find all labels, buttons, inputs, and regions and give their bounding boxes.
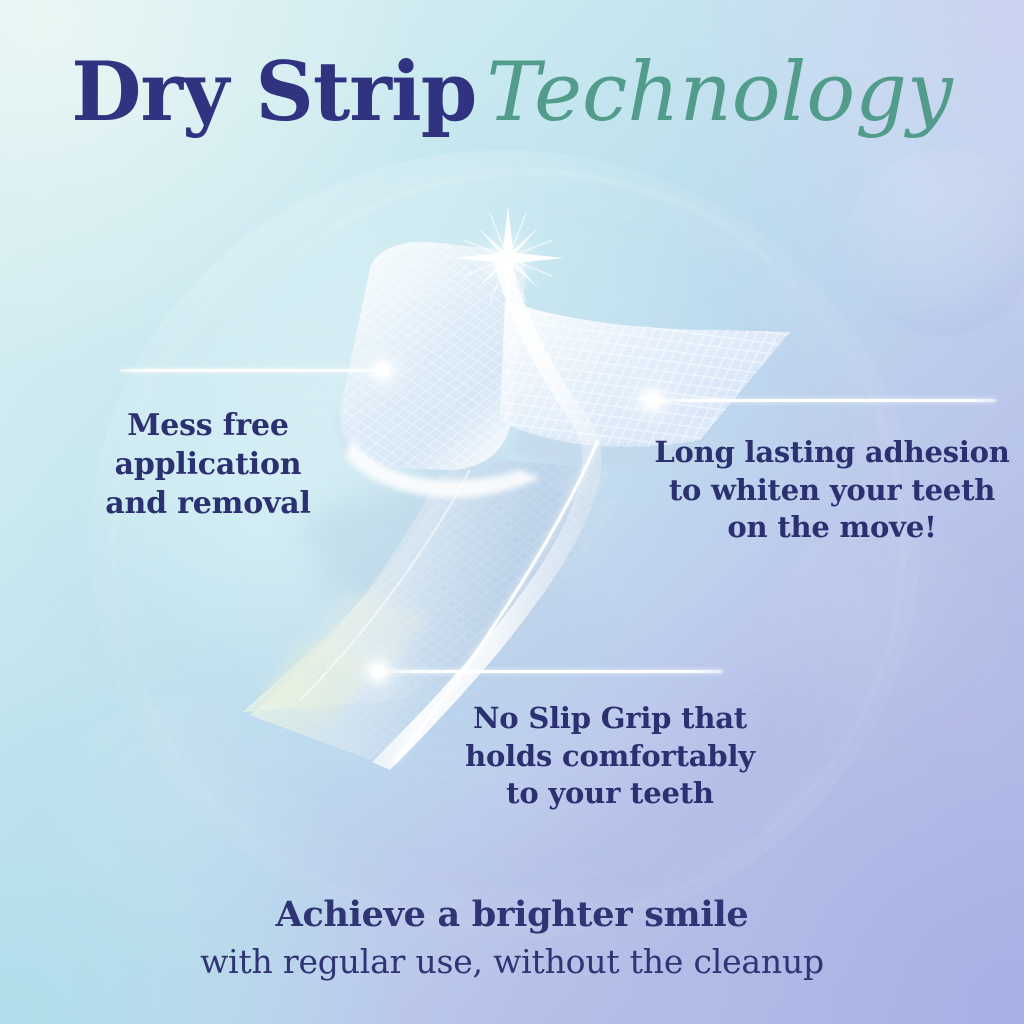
leader-dot-no-slip-grip <box>372 665 385 678</box>
callout-mess-free-line-3: and removal <box>48 484 368 523</box>
page-title: Dry StripTechnology <box>0 52 1024 134</box>
callout-long-lasting-line-3: on the move! <box>640 509 1024 547</box>
infographic-canvas: Dry StripTechnology Mess free applicatio… <box>0 0 1024 1024</box>
callout-no-slip-grip-line-3: to your teeth <box>430 775 790 813</box>
callout-mess-free-line-1: Mess free <box>48 406 368 445</box>
callout-mess-free-line-2: application <box>48 445 368 484</box>
callout-no-slip-grip-line-2: holds comfortably <box>430 738 790 776</box>
callout-long-lasting-line-1: Long lasting adhesion <box>640 434 1024 472</box>
leader-line-long-lasting <box>660 399 996 402</box>
leader-line-mess-free <box>120 369 382 372</box>
leader-line-no-slip-grip <box>385 670 723 673</box>
callout-long-lasting-line-2: to whiten your teeth <box>640 472 1024 510</box>
leader-dot-mess-free <box>376 364 389 377</box>
callout-long-lasting: Long lasting adhesion to whiten your tee… <box>640 434 1024 547</box>
callout-no-slip-grip-line-1: No Slip Grip that <box>430 700 790 738</box>
footer-headline: Achieve a brighter smile <box>0 894 1024 935</box>
callout-no-slip-grip: No Slip Grip that holds comfortably to y… <box>430 700 790 813</box>
leader-dot-long-lasting <box>647 394 660 407</box>
callout-mess-free: Mess free application and removal <box>48 406 368 523</box>
title-italic-text: Technology <box>486 46 952 140</box>
footer-subheadline: with regular use, without the cleanup <box>0 942 1024 981</box>
title-bold-text: Dry Strip <box>71 45 476 140</box>
